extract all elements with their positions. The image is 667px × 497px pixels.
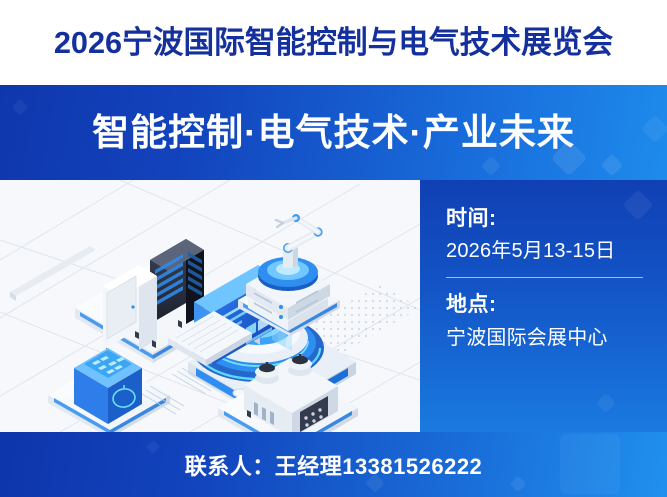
page-title: 2026宁波国际智能控制与电气技术展览会 xyxy=(54,27,613,58)
exhibition-poster: 2026宁波国际智能控制与电气技术展览会 智能控制·电气技术·产业未来 xyxy=(0,0,667,497)
diamond-decoration-icon xyxy=(641,115,667,143)
event-place-value: 宁波国际会展中心 xyxy=(446,325,645,351)
isometric-scene-graphic xyxy=(0,180,420,432)
event-time-value: 2026年5月13-15日 xyxy=(446,238,645,264)
event-place-label: 地点: xyxy=(446,292,645,318)
diamond-decoration-icon xyxy=(510,476,527,493)
info-divider xyxy=(446,277,643,278)
middle-section: 时间: 2026年5月13-15日 地点: 宁波国际会展中心 xyxy=(0,180,667,432)
square-decoration-icon xyxy=(560,434,620,494)
title-band: 2026宁波国际智能控制与电气技术展览会 xyxy=(0,0,667,85)
event-info-panel: 时间: 2026年5月13-15日 地点: 宁波国际会展中心 xyxy=(420,180,667,432)
isometric-illustration xyxy=(0,180,420,432)
diamond-decoration-icon xyxy=(12,99,29,116)
slogan-banner: 智能控制·电气技术·产业未来 xyxy=(0,85,667,180)
event-time-label: 时间: xyxy=(446,206,645,232)
diamond-decoration-icon xyxy=(601,154,624,177)
contact-bar: 联系人：王经理13381526222 xyxy=(0,432,667,497)
diamond-decoration-icon xyxy=(481,156,501,176)
slogan-text: 智能控制·电气技术·产业未来 xyxy=(92,114,575,151)
diamond-decoration-icon xyxy=(146,440,160,454)
diamond-decoration-icon xyxy=(596,393,616,413)
contact-info-text: 联系人：王经理13381526222 xyxy=(185,449,483,481)
